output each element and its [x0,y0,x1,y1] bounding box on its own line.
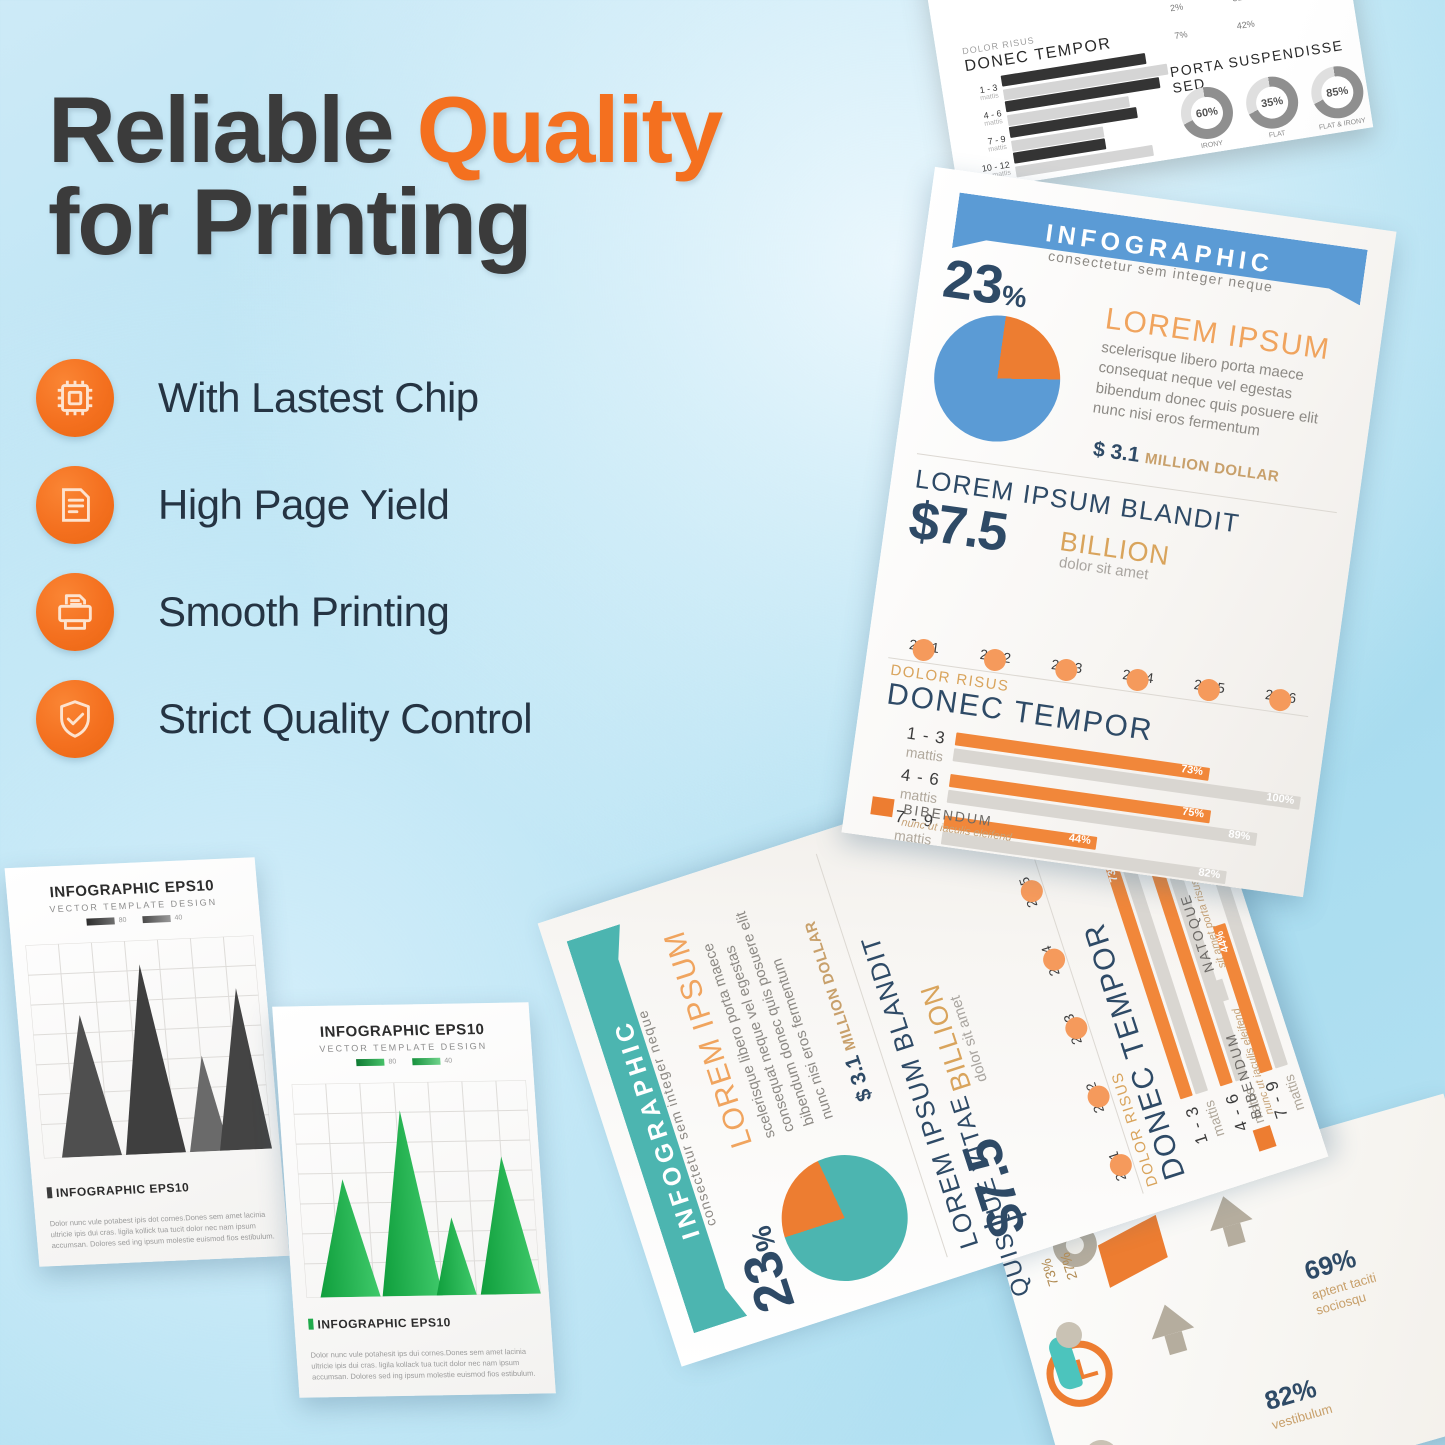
spike-legend-item: 80 [86,917,126,926]
gray-donut-chart: 60% [1177,83,1236,142]
green-legend: 80 40 [276,1056,533,1067]
money-stat: $ 3.1 MILLION DOLLAR [1092,438,1281,488]
main-infographic-sheet: INFOGRAPHIC consectetur sem integer nequ… [842,167,1397,897]
pie-percent-label: 23% [939,247,1032,320]
green-footer-body: Dolor nunc vule potahesit ips dui cornes… [310,1347,543,1384]
spike-legend-item: 40 [142,914,182,923]
feature-label: With Lastest Chip [158,374,479,422]
hbar-value: 44% [1068,832,1091,847]
gray-pct: 42% [1236,18,1255,31]
feature-item-page-yield: High Page Yield [36,451,676,558]
green-legend-item: 40 [412,1058,452,1066]
green-title: INFOGRAPHIC EPS10 [273,1020,530,1041]
feature-label: Strict Quality Control [158,695,532,743]
spike-footer-body: Dolor nunc vule potabest ipis dot cornes… [49,1210,276,1252]
hbar-value: 82% [1198,866,1221,881]
spike-chart-sheet-green: INFOGRAPHIC EPS10 VECTOR TEMPLATE DESIGN… [272,1002,556,1398]
printer-icon [36,573,114,651]
feature-list: With Lastest Chip High Page Yield Smooth… [36,344,676,772]
shield-check-icon [36,680,114,758]
legend-swatch [870,796,894,817]
gray-donut-label: FLAT & IRONY [1316,117,1368,132]
year-bar-item: 2012 [965,639,1027,668]
hbar-value: 89% [1228,828,1251,843]
green-subtitle: VECTOR TEMPLATE DESIGN [275,1040,532,1054]
feature-item-chip: With Lastest Chip [36,344,676,451]
feature-label: Smooth Printing [158,588,449,636]
hbar-value: 75% [1181,806,1204,821]
spike-footer-title: INFOGRAPHIC EPS10 [46,1180,189,1200]
green-legend-value: 80 [388,1058,396,1065]
hbar-value: 73% [1180,763,1203,778]
hbar-value: 100% [1266,791,1296,807]
green-footer-title: INFOGRAPHIC EPS10 [308,1315,451,1331]
spike-chart-plot [25,935,272,1158]
green-legend-item: 80 [356,1058,396,1066]
document-icon [36,466,114,544]
hbar-unit: mattis [1321,1060,1329,1132]
feature-label: High Page Yield [158,481,449,529]
gray-donut-pct: 60% [1195,105,1219,120]
year-bar-item: 2014 [1107,659,1169,688]
headline-line1-highlight: Quality [417,77,722,182]
year-bar-item: 2016 [1250,679,1312,708]
feature-item-quality-control: Strict Quality Control [36,665,676,772]
chip-icon [36,359,114,437]
year-bar-item: 2013 [1036,649,1098,678]
gray-donut-label: IRONY [1186,138,1238,153]
gray-pct-group: 2% 7% 51% 42% [1169,0,1255,41]
gray-pct: 2% [1169,1,1183,13]
gray-donut-label: FLAT [1251,127,1303,142]
spike-legend-value: 80 [118,917,126,924]
gray-legend-sub: sit amet porta risus [1107,171,1158,185]
person-head-icon [1056,1322,1082,1348]
spike-legend-value: 40 [174,914,182,921]
gray-donut-pct: 35% [1260,95,1284,110]
feature-item-smooth-printing: Smooth Printing [36,558,676,665]
gray-donut-chart: 35% [1242,73,1301,132]
page-title: Reliable Quality for Printing [48,84,878,268]
gray-donut-pct: 85% [1326,85,1350,100]
headline-line2: for Printing [48,169,531,274]
year-bar-item: 2011 [893,629,955,658]
grayscale-infographic-sheet: DOLOR RISUS DONEC TEMPOR 1 - 3 mattis 4 … [907,0,1373,193]
gray-donut-chart: 85% [1308,63,1367,122]
year-bar-item: 2015 [1179,669,1241,698]
pie-chart [926,307,1068,449]
green-legend-value: 40 [444,1058,452,1065]
hbar-value: 39% [1259,933,1277,958]
spike-chart-sheet-grey: INFOGRAPHIC EPS10 VECTOR TEMPLATE DESIGN… [5,857,290,1266]
green-chart-plot [292,1080,541,1298]
gray-legend-swatch [1088,170,1101,182]
headline-line1-part1: Reliable [48,77,417,182]
gray-pct: 7% [1174,29,1188,41]
